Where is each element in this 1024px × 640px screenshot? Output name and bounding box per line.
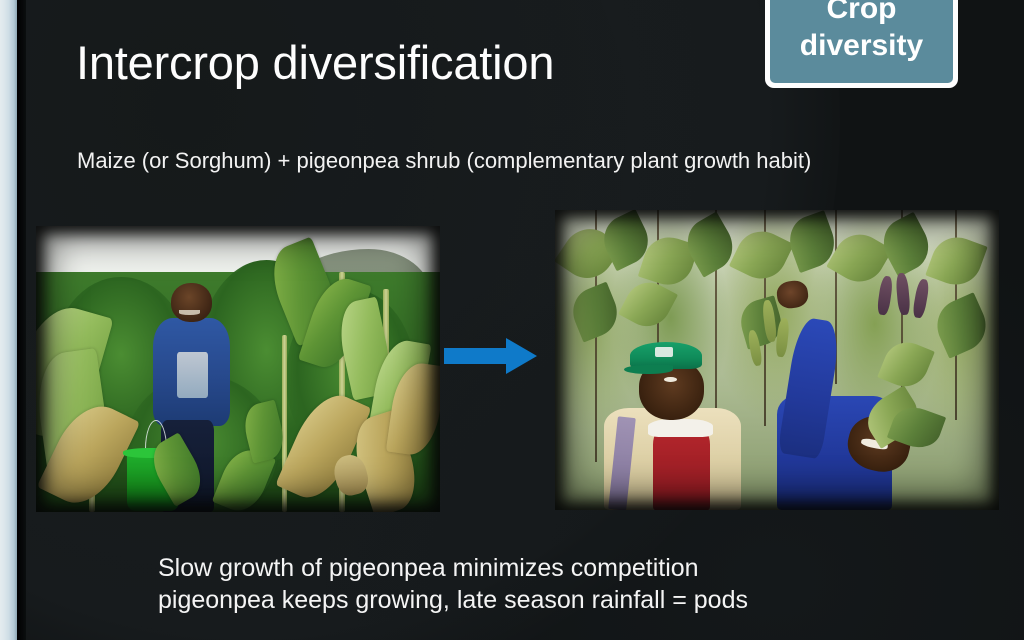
section-badge-label: Crop diversity bbox=[800, 0, 923, 64]
section-badge-line-2: diversity bbox=[800, 27, 923, 64]
photo-pigeonpea-pod-harvest bbox=[555, 210, 999, 510]
caption-line-1: Slow growth of pigeonpea minimizes compe… bbox=[158, 552, 748, 584]
section-badge-line-1: Crop bbox=[800, 0, 923, 27]
slide-caption: Slow growth of pigeonpea minimizes compe… bbox=[158, 552, 748, 616]
observer-red-sweater bbox=[653, 426, 711, 510]
section-badge-crop-diversity: Crop diversity bbox=[765, 0, 958, 88]
process-arrow bbox=[444, 337, 538, 375]
observer-eye bbox=[664, 377, 677, 382]
photo-maize-pigeonpea-intercrop bbox=[36, 226, 440, 512]
slide-edge-strip bbox=[0, 0, 17, 640]
observer-cap-patch bbox=[655, 347, 673, 357]
slide-edge-shadow bbox=[17, 0, 26, 640]
photo-right-scene bbox=[555, 210, 999, 510]
photo-left-scene bbox=[36, 226, 440, 512]
slide-subtitle: Maize (or Sorghum) + pigeonpea shrub (co… bbox=[77, 146, 811, 176]
slide-title: Intercrop diversification bbox=[76, 34, 554, 92]
arrow-right-icon bbox=[444, 337, 538, 375]
observer-shirt-collar bbox=[648, 419, 712, 437]
section-badge-fill: Crop diversity bbox=[770, 0, 953, 83]
farmer-head bbox=[171, 283, 211, 322]
presentation-slide: Intercrop diversification Crop diversity… bbox=[0, 0, 1024, 640]
caption-line-2: pigeonpea keeps growing, late season rai… bbox=[158, 584, 748, 616]
farmer-shirt-print bbox=[177, 352, 207, 398]
farmer-smile bbox=[179, 310, 199, 315]
